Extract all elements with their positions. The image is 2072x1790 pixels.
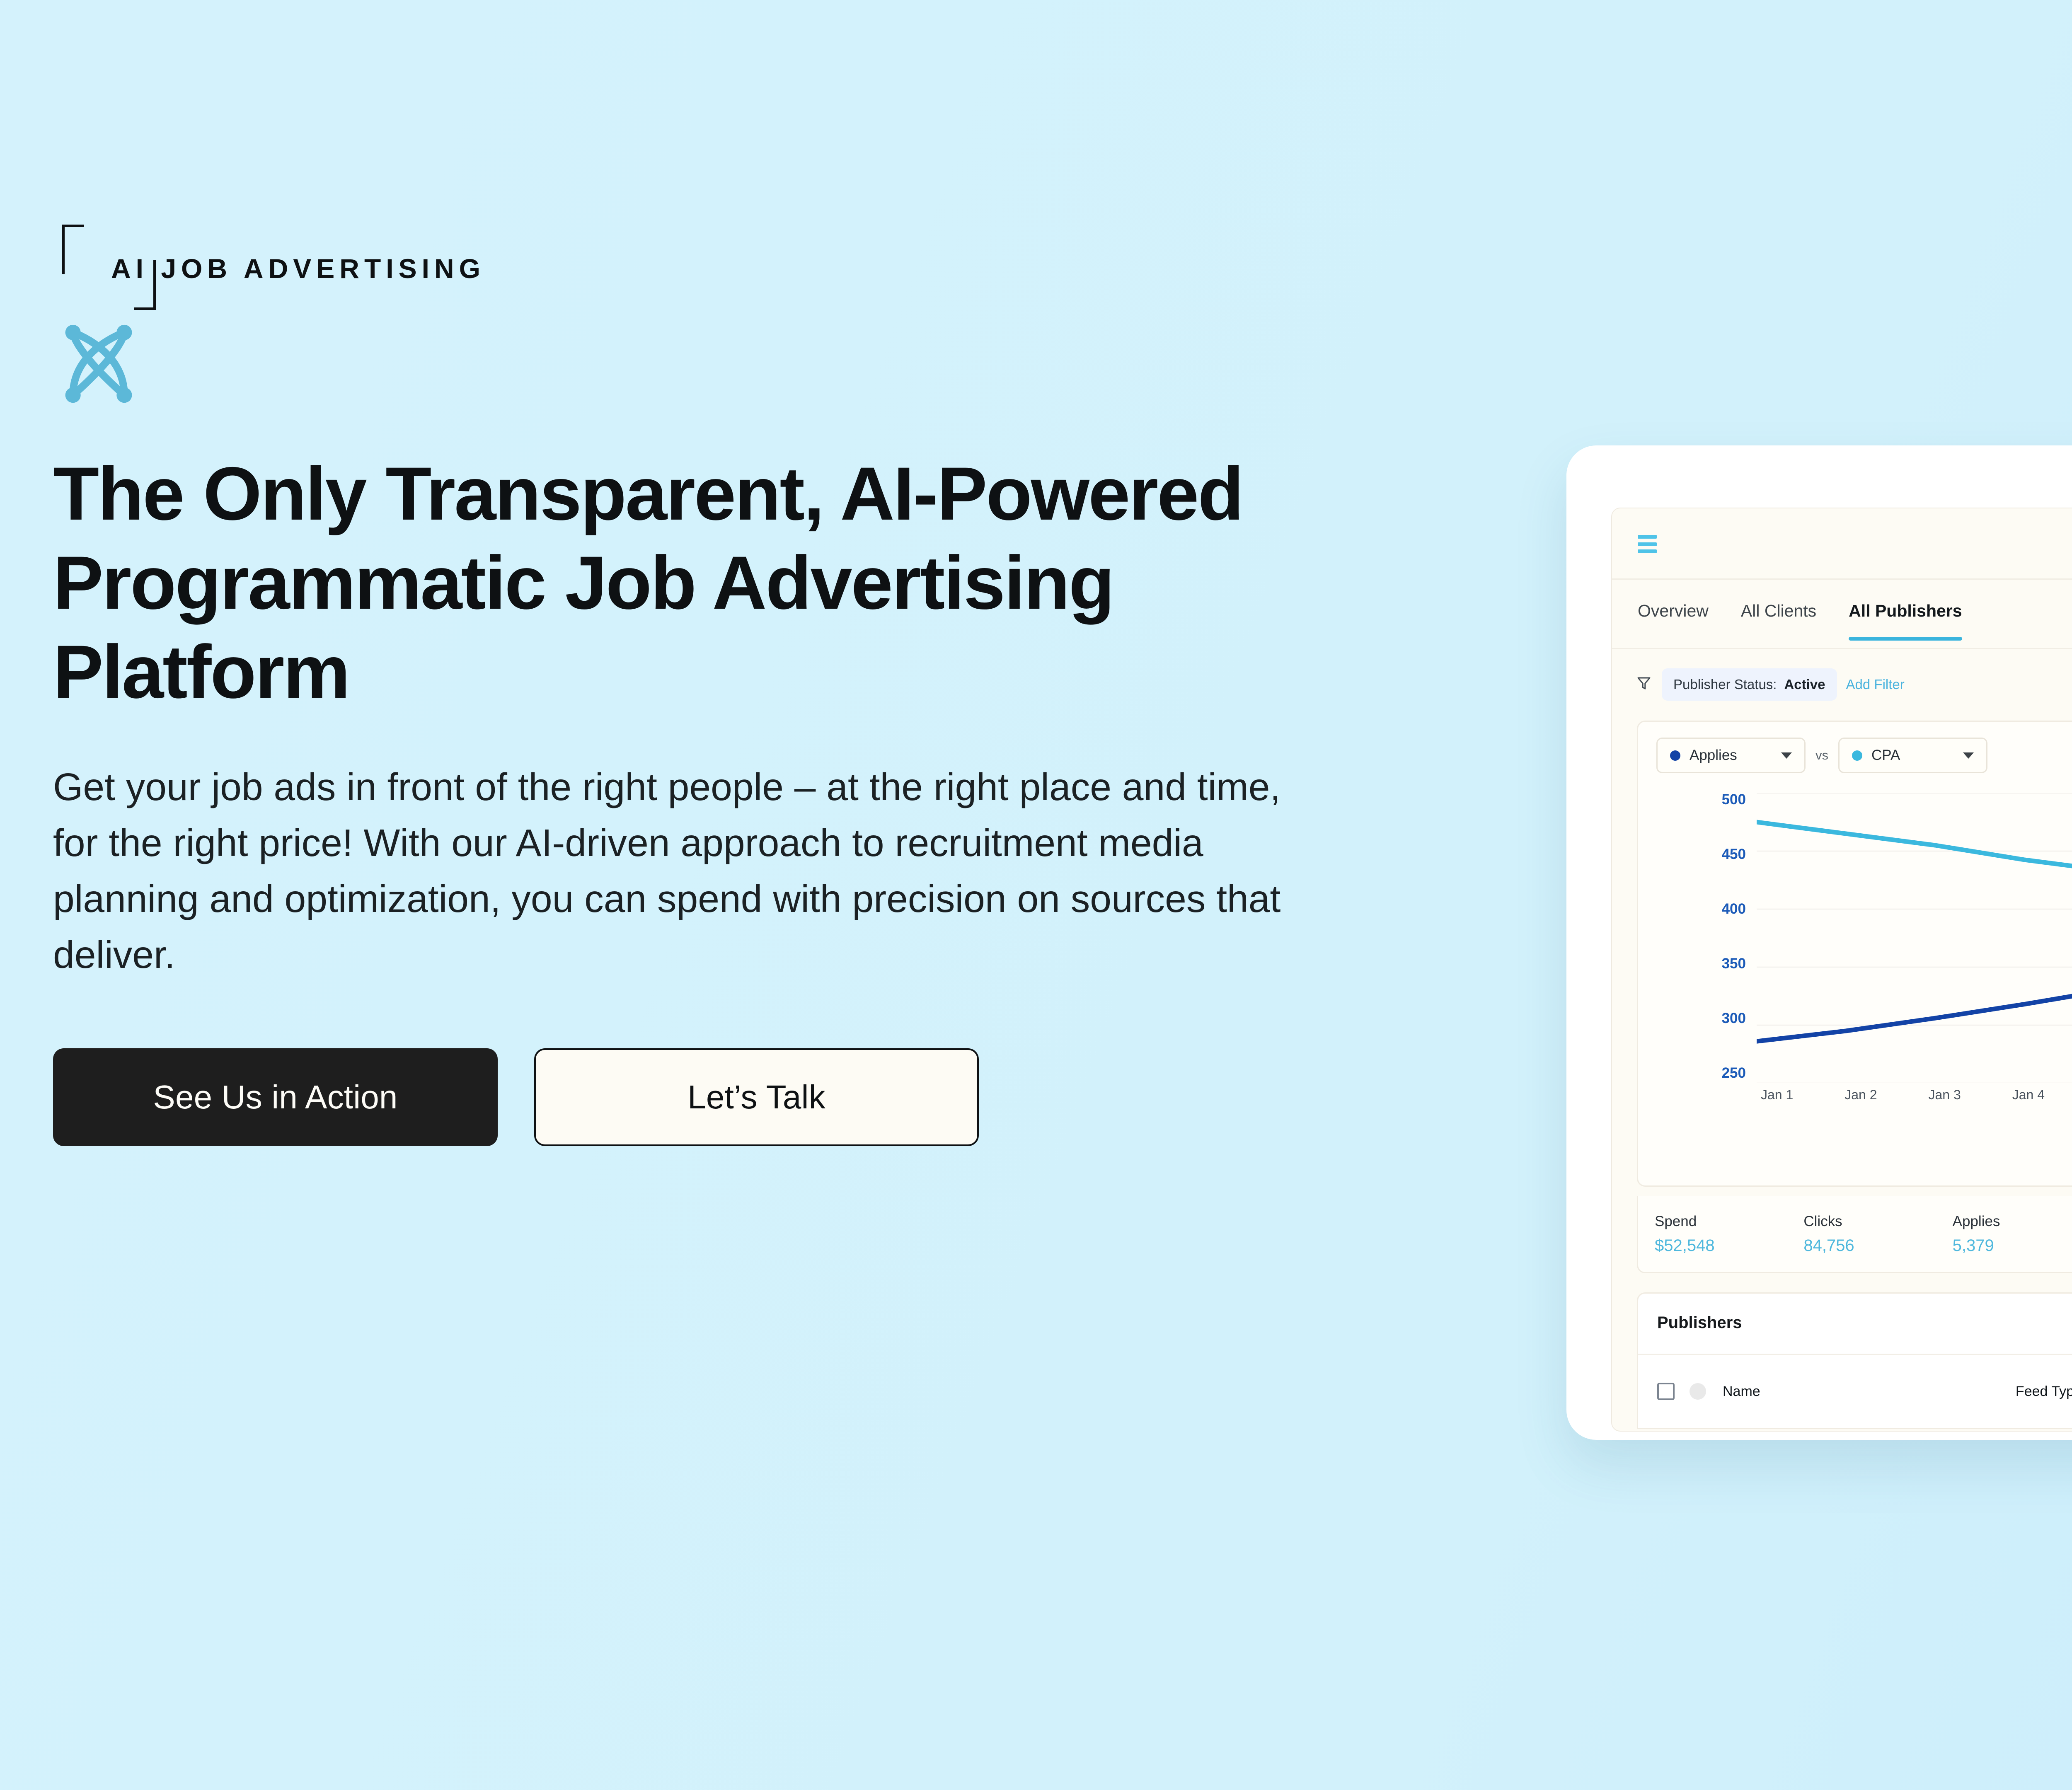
vs-label: vs	[1815, 748, 1828, 763]
dashboard-screenshot: Joveo Instance - $ USD	[1566, 445, 2072, 1440]
kpi-value: 5,379	[1953, 1236, 2072, 1255]
dashboard-filter-bar: Publisher Status: Active Add Filter 01 J…	[1612, 649, 2072, 719]
dashboard-app-window: Joveo Instance - $ USD	[1611, 508, 2072, 1432]
y-tick-left: 250	[1722, 1065, 1746, 1081]
series-color-dot-cpa	[1852, 750, 1862, 761]
kpi-label: Applies	[1953, 1213, 2072, 1230]
eyebrow-label: AI JOB ADVERTISING	[111, 253, 485, 284]
joveo-atom-logo	[53, 318, 144, 409]
kpi-summary-row: Spend$52,548Clicks84,756Applies5,379Hire…	[1637, 1196, 2072, 1273]
column-header-feed-type[interactable]: Feed Type	[2016, 1384, 2072, 1400]
bracket-top-left-icon	[62, 225, 84, 274]
filter-chip-label: Publisher Status:	[1673, 677, 1777, 692]
funnel-icon[interactable]	[1635, 675, 1653, 694]
filter-group: Publisher Status: Active Add Filter	[1635, 668, 1905, 701]
publishers-title: Publishers	[1657, 1313, 1742, 1332]
eyebrow-badge: AI JOB ADVERTISING	[53, 211, 480, 307]
publishers-panel-header: Publishers	[1638, 1294, 2072, 1355]
secondary-metric-label: CPA	[1871, 747, 1954, 764]
hamburger-menu-icon[interactable]	[1638, 535, 1657, 553]
tab-all-clients[interactable]: All Clients	[1741, 601, 1816, 641]
metric-selector-group: Applies vs CPA	[1656, 738, 1987, 773]
x-tick: Jan 1	[1761, 1087, 1793, 1103]
x-tick: Jan 4	[2012, 1087, 2045, 1103]
tab-all-publishers[interactable]: All Publishers	[1849, 601, 1962, 641]
dashboard-tabbar: Overview All Clients All Publishers Add …	[1612, 580, 2072, 649]
page-title: The Only Transparent, AI-Powered Program…	[53, 449, 1276, 716]
y-axis-left: 500 450 400 350 300 250	[1651, 791, 1746, 1081]
series-color-dot-applies	[1670, 750, 1680, 761]
tab-overview[interactable]: Overview	[1638, 601, 1709, 641]
kpi-value: $52,548	[1655, 1236, 1803, 1255]
chart-plot-area	[1757, 793, 2072, 1083]
chart-panel: Applies vs CPA 500 450 400 3	[1637, 721, 2072, 1187]
select-all-checkbox[interactable]	[1657, 1383, 1675, 1400]
landing-page: AI JOB ADVERTISING The Only Transparent,	[0, 0, 2072, 1790]
publishers-table-header: Name Feed Type Active Clients Clicks App…	[1638, 1355, 2072, 1428]
hero-content: AI JOB ADVERTISING The Only Transparent,	[53, 211, 1379, 1146]
kpi-value: 84,756	[1803, 1236, 1952, 1255]
filter-chip-value: Active	[1784, 677, 1825, 692]
primary-metric-select[interactable]: Applies	[1656, 738, 1806, 773]
dashboard-header: Joveo Instance - $ USD	[1612, 508, 2072, 580]
kpi-label: Spend	[1655, 1213, 1803, 1230]
chevron-down-icon	[1963, 752, 1974, 759]
status-indicator-icon	[1690, 1383, 1706, 1400]
y-tick-left: 400	[1722, 901, 1746, 917]
chevron-down-icon	[1781, 752, 1792, 759]
filter-chip-publisher-status[interactable]: Publisher Status: Active	[1662, 668, 1837, 701]
x-axis: Jan 1Jan 2Jan 3Jan 4Jan 5Jan 6Jan 7Jan 8…	[1761, 1087, 2072, 1103]
kpi-item: Clicks84,756	[1803, 1213, 1952, 1255]
y-tick-left: 350	[1722, 955, 1746, 972]
see-us-in-action-button[interactable]: See Us in Action	[53, 1048, 498, 1146]
cta-button-group: See Us in Action Let’s Talk	[53, 1048, 1379, 1146]
kpi-item: Spend$52,548	[1655, 1213, 1803, 1255]
y-tick-left: 450	[1722, 846, 1746, 863]
publishers-panel: Publishers	[1637, 1292, 2072, 1429]
y-tick-left: 300	[1722, 1010, 1746, 1027]
secondary-metric-select[interactable]: CPA	[1838, 738, 1987, 773]
line-chart: 500 450 400 350 300 250 $14	[1638, 791, 2072, 1119]
hero-description: Get your job ads in front of the right p…	[53, 759, 1300, 982]
lets-talk-button[interactable]: Let’s Talk	[534, 1048, 979, 1146]
add-filter-link[interactable]: Add Filter	[1846, 677, 1905, 692]
column-header-name[interactable]: Name	[1723, 1384, 2016, 1400]
x-tick: Jan 3	[1928, 1087, 1961, 1103]
x-tick: Jan 2	[1844, 1087, 1877, 1103]
kpi-label: Clicks	[1803, 1213, 1952, 1230]
primary-metric-label: Applies	[1690, 747, 1772, 764]
tab-list: Overview All Clients All Publishers	[1638, 601, 1962, 641]
y-tick-left: 500	[1722, 791, 1746, 808]
kpi-item: Applies5,379	[1953, 1213, 2072, 1255]
